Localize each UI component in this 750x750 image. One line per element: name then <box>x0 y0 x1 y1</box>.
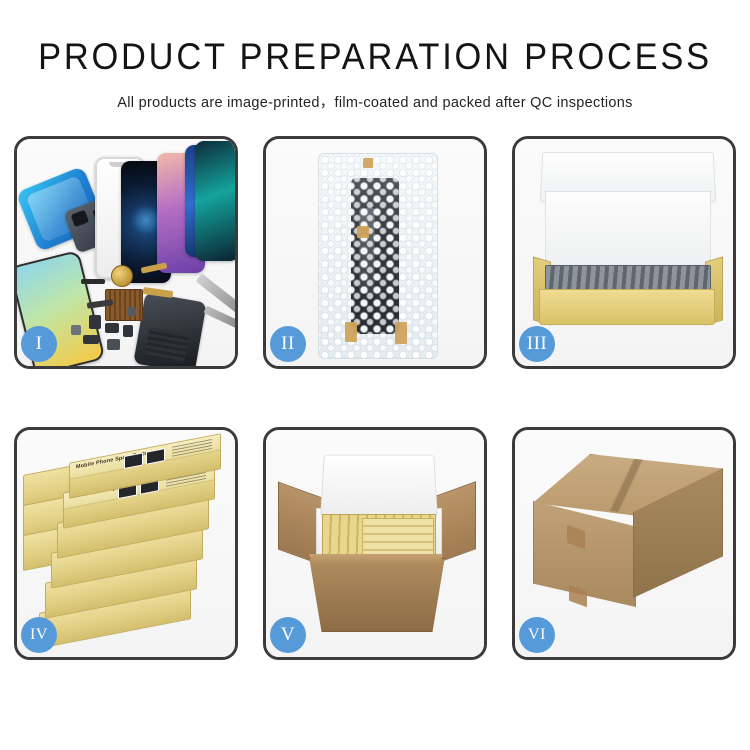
foam-box-lid <box>320 455 438 518</box>
bag-tape-1 <box>363 158 373 168</box>
gold-component <box>111 265 133 287</box>
process-panel-2[interactable]: II <box>263 136 487 369</box>
small-part-7 <box>71 325 81 335</box>
bag-tape-4 <box>395 322 407 344</box>
carton-rim <box>300 554 452 566</box>
step-badge-2: II <box>270 326 306 362</box>
step-badge-1: I <box>21 326 57 362</box>
carton-body <box>300 558 454 632</box>
bag-tape-3 <box>345 322 357 342</box>
process-panel-5[interactable]: V <box>263 427 487 660</box>
tweezers-tool-2 <box>203 306 235 333</box>
box-front-yellow <box>539 289 715 325</box>
small-part-1 <box>89 315 101 329</box>
small-part-4 <box>83 335 99 344</box>
step-badge-3: III <box>519 326 555 362</box>
page-header: PRODUCT PREPARATION PROCESS All products… <box>0 0 750 112</box>
small-part-2 <box>105 323 119 333</box>
phone-teal-display <box>195 141 235 261</box>
box-thumbnail-1a <box>124 452 143 469</box>
box-spec-lines-1 <box>172 439 212 457</box>
step-badge-4: IV <box>21 617 57 653</box>
small-part-3 <box>123 325 133 337</box>
process-panel-grid: I II III <box>14 136 736 660</box>
process-panel-3[interactable]: III <box>512 136 736 369</box>
box-lid-face-1: Mobile Phone Spare Parts <box>70 434 220 479</box>
bag-tape-2 <box>357 226 369 238</box>
process-panel-6[interactable]: VI <box>512 427 736 660</box>
bubble-wrap-bag <box>318 153 438 359</box>
yellow-boxes-row-2 <box>362 518 434 556</box>
process-panel-1[interactable]: I <box>14 136 238 369</box>
process-panel-4[interactable]: Mobile Phone Spare Parts Mobile Phone Sp… <box>14 427 238 660</box>
flex-cable-3 <box>81 279 105 284</box>
small-part-5 <box>107 339 120 350</box>
foam-sheet <box>545 191 711 275</box>
step-badge-6: VI <box>519 617 555 653</box>
step-badge-5: V <box>270 617 306 653</box>
small-part-6 <box>127 307 136 316</box>
page-subtitle: All products are image-printed，film-coat… <box>0 91 750 112</box>
bubble-texture <box>319 154 437 358</box>
phone-rear-housing <box>133 292 207 366</box>
box-thumbnail-1b <box>146 448 165 465</box>
box-stack: Mobile Phone Spare Parts Mobile Phone Sp… <box>23 448 229 640</box>
page-title: PRODUCT PREPARATION PROCESS <box>26 38 724 77</box>
